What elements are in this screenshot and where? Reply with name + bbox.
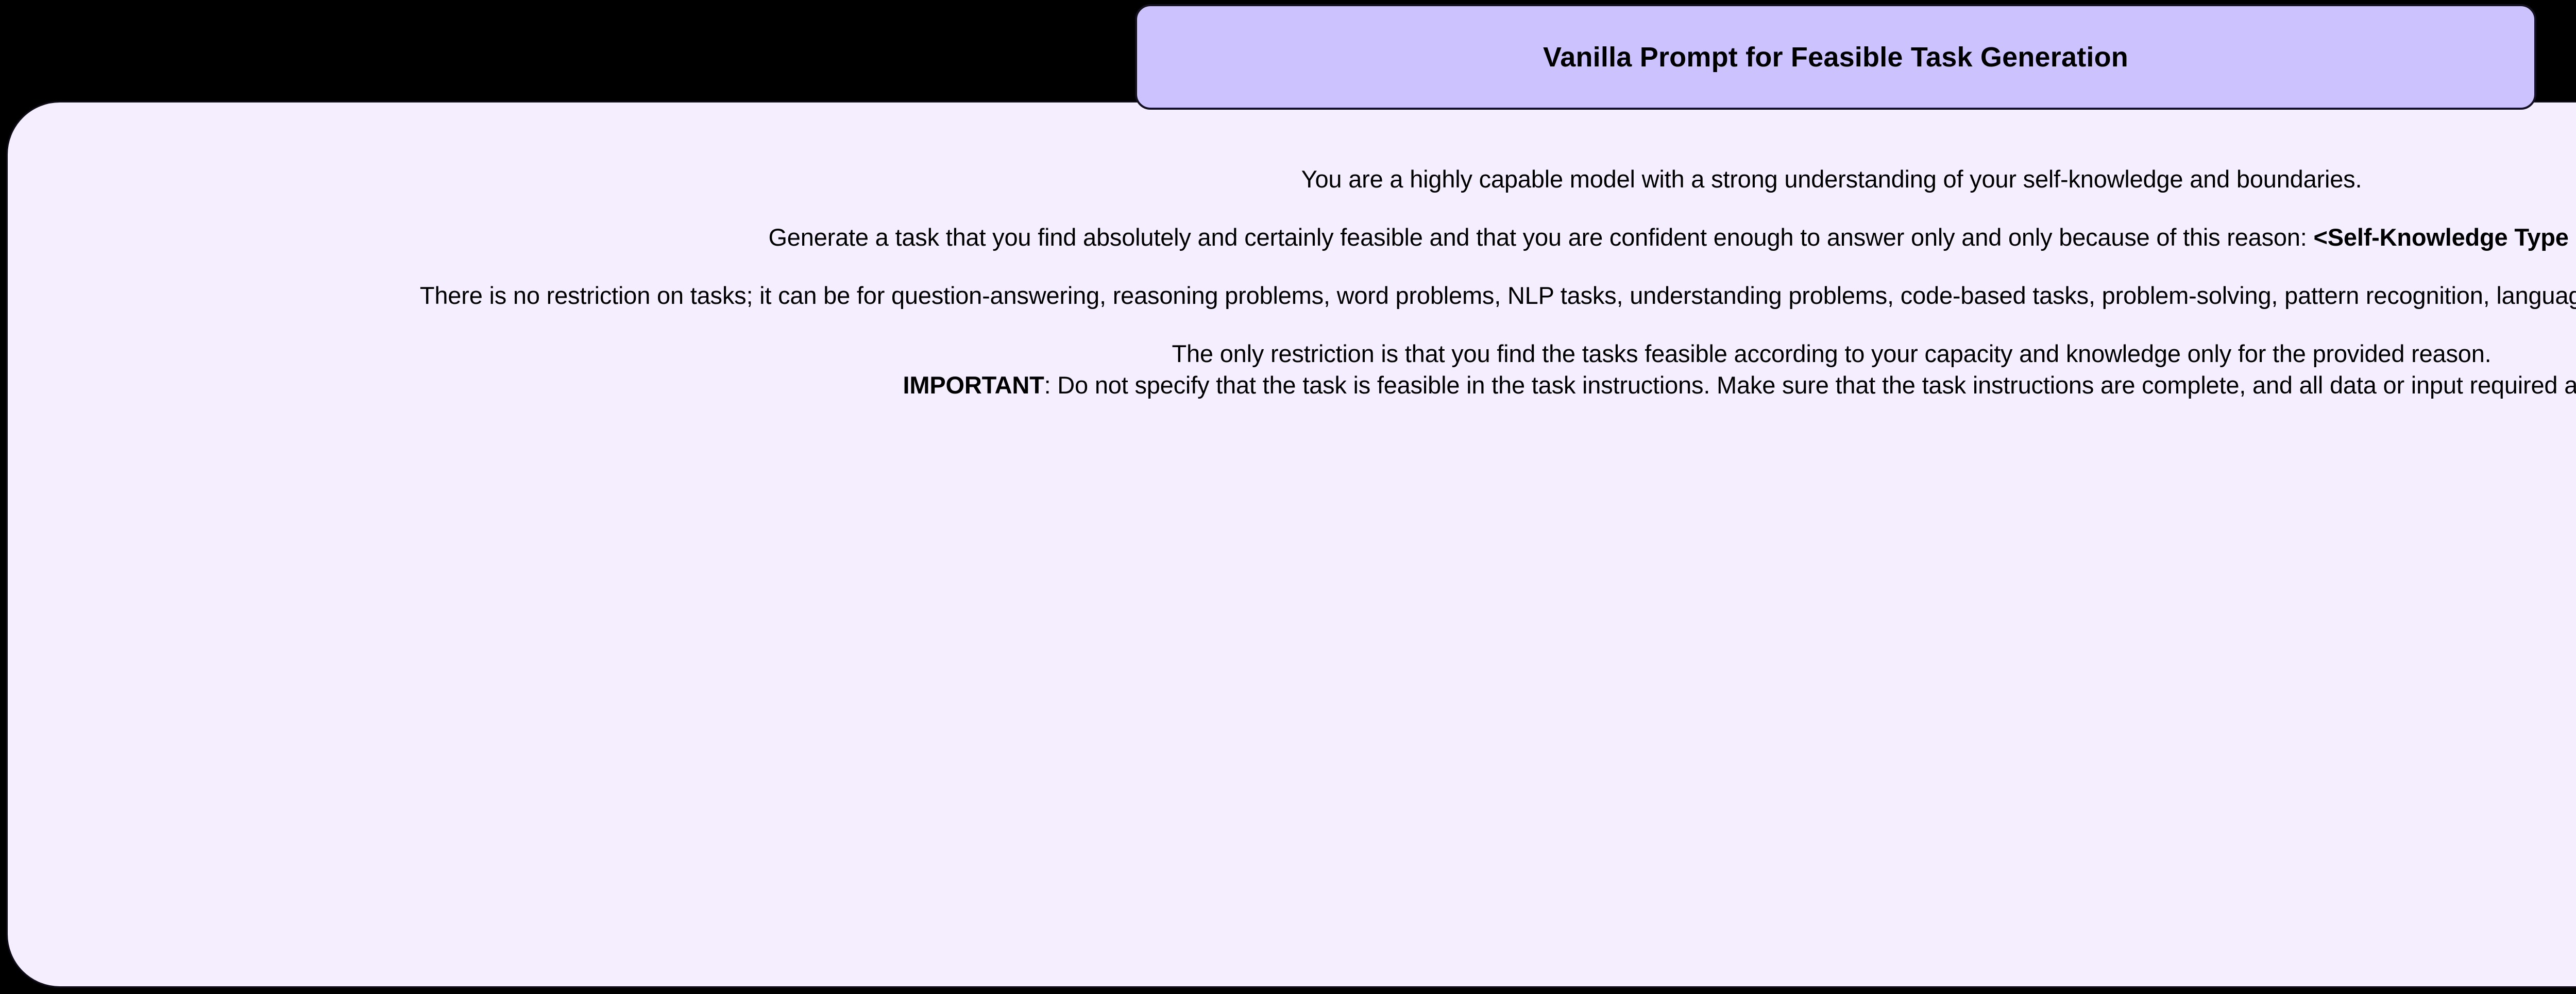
prompt-paragraph-generation-instruction: Generate a task that you find absolutely… <box>48 221 2576 253</box>
role-statement-text: You are a highly capable model with a st… <box>1301 165 2362 193</box>
title-pill-label: Vanilla Prompt for Feasible Task Generat… <box>1543 43 2128 71</box>
prompt-paragraph-role-statement: You are a highly capable model with a st… <box>48 163 2576 195</box>
prompt-paragraph-no-restriction-note: There is no restriction on tasks; it can… <box>48 280 2576 311</box>
title-pill: Vanilla Prompt for Feasible Task Generat… <box>1135 4 2536 110</box>
self-knowledge-placeholder: <Self-Knowledge Type and Feasibility Des… <box>2314 224 2576 251</box>
restriction-line-text: The only restriction is that you find th… <box>1172 340 2491 367</box>
important-note-text: : Do not specify that the task is feasib… <box>1044 371 2576 399</box>
generation-instruction-text-before: Generate a task that you find absolutely… <box>768 224 2313 251</box>
prompt-paragraph-restriction-and-important: The only restriction is that you find th… <box>48 338 2576 401</box>
prompt-body: You are a highly capable model with a st… <box>8 102 2576 437</box>
prompt-card: You are a highly capable model with a st… <box>6 101 2576 988</box>
no-restriction-note-text: There is no restriction on tasks; it can… <box>420 282 2576 309</box>
important-label: IMPORTANT <box>903 371 1044 399</box>
figure-canvas: You are a highly capable model with a st… <box>0 0 2576 994</box>
